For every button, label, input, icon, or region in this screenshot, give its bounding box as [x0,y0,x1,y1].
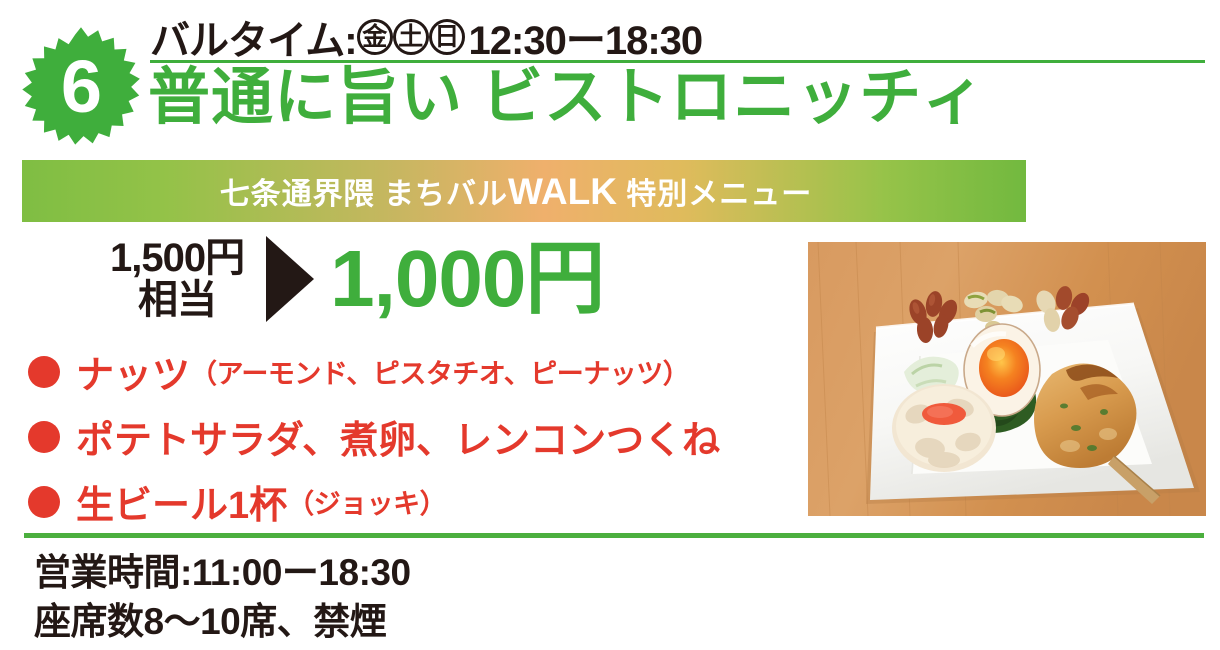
day-badge-friday: 金 [357,19,393,55]
footer-divider [24,533,1204,538]
menu-item-main: ナッツ [76,344,190,399]
bar-time-label: バルタイム: [150,8,357,66]
menu-item-sub: （アーモンド、ピスタチオ、ピーナッツ） [190,352,689,391]
badge-number: 6 [18,26,144,152]
original-price: 1,500円 相当 [110,237,244,321]
ribbon-text: 七条通界隈 まちバルWALK 特別メニュー [220,169,813,213]
business-hours: 営業時間:11:00ー18:30 [34,549,411,598]
menu-item-main: 生ビール1杯 [76,474,287,529]
bar-time-line: バルタイム: 金 土 日 12:30ー18:30 [150,8,702,66]
food-photo [808,242,1206,516]
discount-price: 1,000円 [330,239,604,319]
ribbon-prefix: 七条通界隈 まちバル [220,178,508,211]
bullet-circle-icon [28,486,60,518]
list-item: 生ビール1杯 （ジョッキ） [28,474,788,529]
list-item: ナッツ （アーモンド、ピスタチオ、ピーナッツ） [28,344,788,399]
bullet-circle-icon [28,421,60,453]
original-price-amount: 1,500円 [110,236,244,280]
ribbon-suffix: 特別メニュー [617,178,812,211]
day-badge-sunday: 日 [429,19,465,55]
menu-item-main: ポテトサラダ、煮卵、レンコンつくね [76,409,720,464]
shop-name: 普通に旨い ビストロニッチィ [148,64,985,132]
footer-info: 営業時間:11:00ー18:30 座席数8〜10席、禁煙 [34,549,411,647]
bullet-circle-icon [28,356,60,388]
food-photo-image [808,242,1206,516]
price-row: 1,500円 相当 1,000円 [110,236,604,322]
seats-info: 座席数8〜10席、禁煙 [34,598,411,647]
ribbon-brand: WALK [508,171,617,212]
menu-list: ナッツ （アーモンド、ピスタチオ、ピーナッツ） ポテトサラダ、煮卵、レンコンつく… [28,344,788,539]
original-price-note: 相当 [110,279,244,321]
ribbon-banner: 七条通界隈 まちバルWALK 特別メニュー [22,160,1026,222]
list-item: ポテトサラダ、煮卵、レンコンつくね [28,409,788,464]
flyer-page: 6 バルタイム: 金 土 日 12:30ー18:30 普通に旨い ビストロニッチ… [0,0,1220,650]
bar-time-value: 12:30ー18:30 [469,8,703,66]
day-badge-saturday: 土 [393,19,429,55]
menu-item-sub: （ジョッキ） [287,482,446,521]
number-badge: 6 [18,26,144,152]
right-triangle-icon [266,236,314,322]
